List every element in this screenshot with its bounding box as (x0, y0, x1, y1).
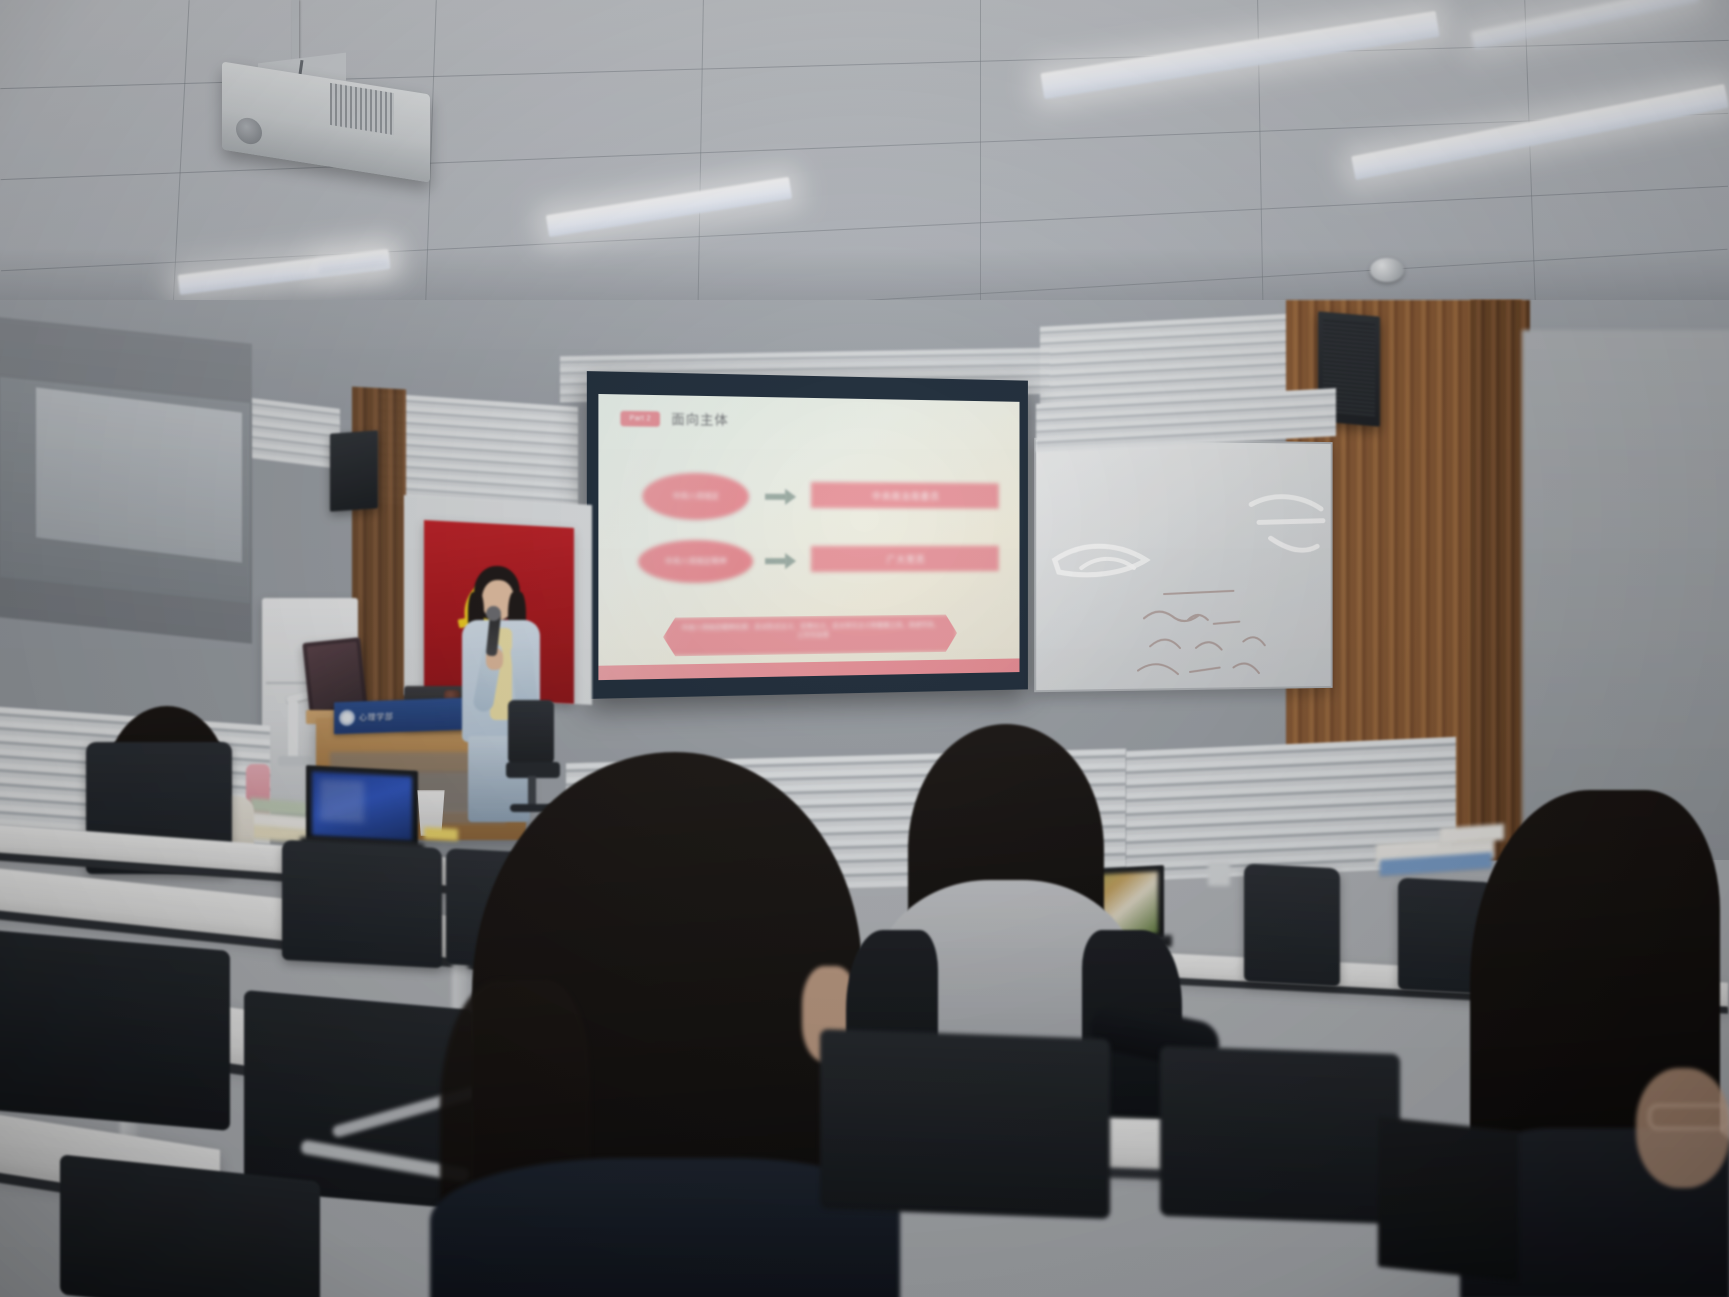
projection-screen: Part 2 面向主体 中央八项规定 中央八项规定精神 中央政治局委员 广大党员… (587, 371, 1028, 699)
laptop-screen-text (320, 781, 364, 823)
chair (282, 840, 442, 968)
chair (1160, 1046, 1400, 1224)
monitor-arm-post (288, 700, 298, 762)
presentation-slide: Part 2 面向主体 中央八项规定 中央八项规定精神 中央政治局委员 广大党员… (598, 394, 1019, 680)
sticky-note (424, 827, 458, 841)
wall-outlet (1208, 862, 1230, 886)
classroom-photo: Part 2 面向主体 中央八项规定 中央八项规定精神 中央政治局委员 广大党员… (0, 0, 1729, 1297)
whiteboard (1034, 438, 1332, 692)
screen-glare (598, 394, 1019, 680)
student-face (1636, 1068, 1729, 1188)
left-whiteboard (36, 387, 242, 562)
dome-camera-icon (1370, 258, 1404, 282)
chair (1244, 863, 1340, 986)
podium-sign-text: 心理学部 (359, 711, 393, 723)
laptop (1378, 1117, 1518, 1282)
right-wall-panel (1522, 330, 1729, 850)
university-seal-icon (339, 710, 355, 727)
projector-mount-rod (292, 0, 299, 62)
wood-slat-wall-edge (1470, 300, 1530, 860)
wall-speaker (330, 430, 378, 511)
chair (820, 1029, 1110, 1219)
podium-nameplate: 心理学部 (334, 698, 464, 735)
chair (0, 929, 230, 1131)
